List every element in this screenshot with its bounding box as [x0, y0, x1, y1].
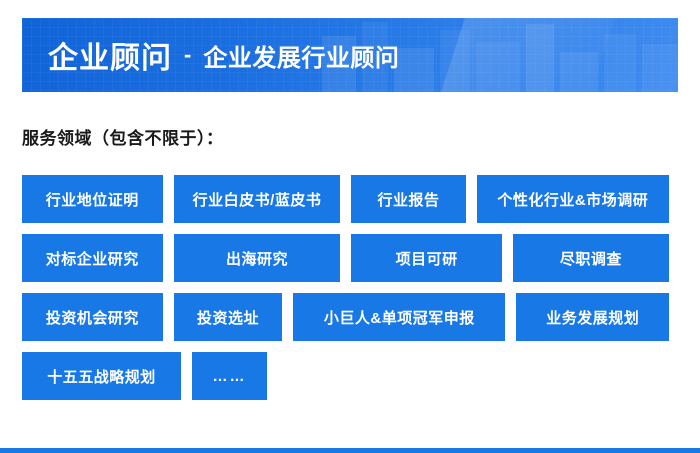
service-tag-row: 对标企业研究出海研究项目可研尽职调查 — [22, 234, 680, 282]
poster-page: 企业顾问 - 企业发展行业顾问 服务领域（包含不限于）： 行业地位证明行业白皮书… — [0, 0, 700, 453]
service-tag-row: 行业地位证明行业白皮书/蓝皮书行业报告个性化行业&市场调研 — [22, 175, 680, 223]
service-tag-row: 十五五战略规划…… — [22, 352, 680, 400]
banner-title-separator: - — [184, 42, 191, 68]
service-tag[interactable]: 对标企业研究 — [22, 234, 163, 282]
service-tag-grid: 行业地位证明行业白皮书/蓝皮书行业报告个性化行业&市场调研对标企业研究出海研究项… — [22, 175, 680, 411]
service-tag[interactable]: 业务发展规划 — [516, 293, 669, 341]
banner-light-sheen — [433, 18, 622, 92]
banner-building-9 — [642, 44, 678, 92]
banner-building-8 — [604, 34, 636, 92]
service-tag[interactable]: 行业地位证明 — [22, 175, 163, 223]
banner-building-3 — [394, 48, 434, 92]
service-tag[interactable]: 十五五战略规划 — [22, 352, 181, 400]
section-label: 服务领域（包含不限于）： — [22, 124, 224, 149]
banner-title: 企业顾问 - 企业发展行业顾问 — [48, 18, 399, 92]
service-tag[interactable]: 尽职调查 — [513, 234, 669, 282]
service-tag[interactable]: 行业报告 — [351, 175, 465, 223]
footer-accent-bar — [0, 448, 700, 453]
service-tag[interactable]: 投资选址 — [174, 293, 282, 341]
service-tag[interactable]: 小巨人&单项冠军申报 — [293, 293, 505, 341]
service-tag[interactable]: 行业白皮书/蓝皮书 — [174, 175, 341, 223]
service-tag-row: 投资机会研究投资选址小巨人&单项冠军申报业务发展规划 — [22, 293, 680, 341]
service-tag[interactable]: 出海研究 — [174, 234, 341, 282]
banner-title-sub: 企业发展行业顾问 — [203, 38, 399, 73]
service-tag[interactable]: 投资机会研究 — [22, 293, 163, 341]
banner-title-main: 企业顾问 — [48, 33, 172, 77]
service-tag[interactable]: 个性化行业&市场调研 — [477, 175, 669, 223]
header-banner: 企业顾问 - 企业发展行业顾问 — [22, 18, 678, 92]
service-tag[interactable]: …… — [192, 352, 267, 400]
service-tag[interactable]: 项目可研 — [351, 234, 501, 282]
